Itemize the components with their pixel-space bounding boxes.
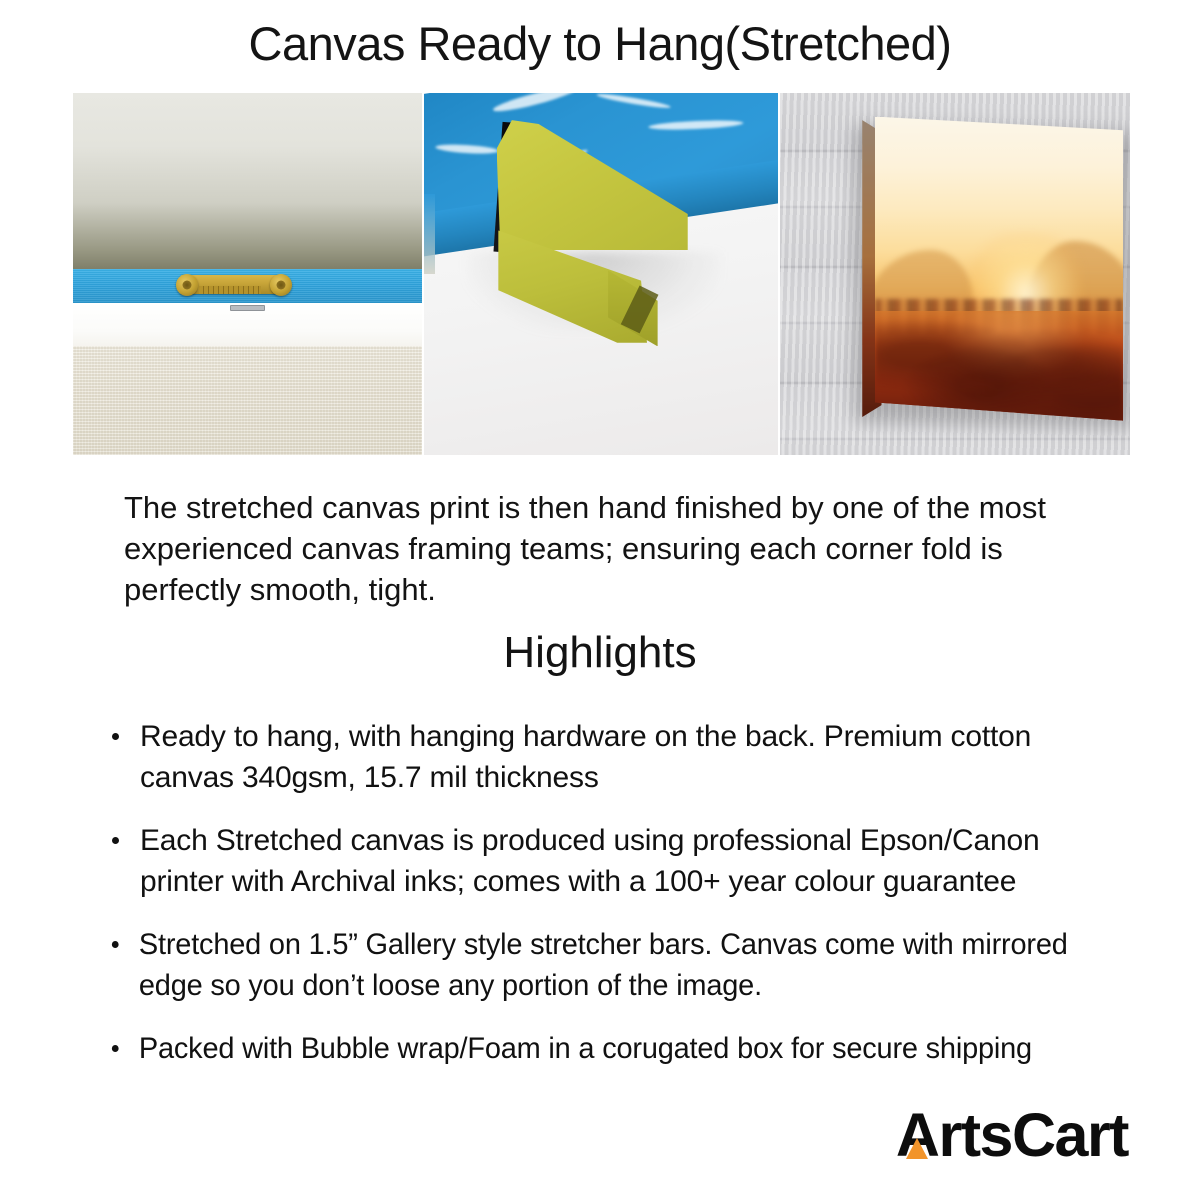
highlights-list: Ready to hang, with hanging hardware on … bbox=[108, 716, 1118, 1091]
gallery-image-canvas-hanging-on-wall[interactable] bbox=[780, 93, 1130, 455]
gallery-image-canvas-corner-fold[interactable] bbox=[424, 93, 778, 455]
highlight-item-stretcher-bars: Stretched on 1.5” Gallery style stretche… bbox=[108, 924, 1083, 1006]
highlight-item-printing: Each Stretched canvas is produced using … bbox=[108, 820, 1118, 902]
bullet-dot-icon bbox=[112, 941, 119, 948]
highlights-heading: Highlights bbox=[0, 628, 1200, 678]
print-cloud-streak-icon bbox=[596, 93, 671, 110]
brand-logo-rest-glyphs: rtsCart bbox=[938, 1105, 1128, 1166]
print-cloud-streak-icon bbox=[648, 118, 743, 130]
hanger-screw-right-icon bbox=[270, 274, 292, 296]
print-cloud-streak-icon bbox=[435, 143, 499, 155]
brand-logo-artscart[interactable]: A rtsCart bbox=[896, 1105, 1128, 1166]
highlight-item-text: Ready to hang, with hanging hardware on … bbox=[140, 720, 1031, 794]
canvas-back-cotton-surface bbox=[73, 346, 422, 455]
bullet-dot-icon bbox=[112, 733, 119, 740]
highlight-item-text: Packed with Bubble wrap/Foam in a coruga… bbox=[139, 1032, 1032, 1065]
bullet-dot-icon bbox=[112, 1045, 119, 1052]
corner-fold-left-edge-sliver bbox=[424, 194, 435, 274]
canvas-back-wall-backdrop bbox=[73, 93, 422, 270]
canvas-print-front-face bbox=[875, 117, 1124, 421]
product-image-gallery bbox=[73, 93, 1130, 455]
gallery-image-canvas-back-hanging-hardware[interactable] bbox=[73, 93, 422, 455]
highlight-item-packaging: Packed with Bubble wrap/Foam in a coruga… bbox=[108, 1028, 1083, 1069]
sunset-foreground-terrain bbox=[875, 311, 1124, 420]
print-cloud-streak-icon bbox=[492, 93, 579, 115]
intro-paragraph: The stretched canvas print is then hand … bbox=[124, 487, 1074, 610]
hanger-screw-left-icon bbox=[176, 274, 198, 296]
highlight-item-text: Each Stretched canvas is produced using … bbox=[140, 824, 1039, 898]
highlight-item-text: Stretched on 1.5” Gallery style stretche… bbox=[139, 928, 1068, 1002]
bullet-dot-icon bbox=[112, 837, 119, 844]
product-info-page: Canvas Ready to Hang(Stretched) bbox=[0, 0, 1200, 1200]
brand-logo-letter-a: A bbox=[896, 1105, 939, 1166]
orange-triangle-icon bbox=[906, 1138, 928, 1159]
canvas-back-metal-tab bbox=[230, 305, 265, 311]
page-title: Canvas Ready to Hang(Stretched) bbox=[0, 16, 1200, 71]
highlight-item-ready-to-hang: Ready to hang, with hanging hardware on … bbox=[108, 716, 1118, 798]
